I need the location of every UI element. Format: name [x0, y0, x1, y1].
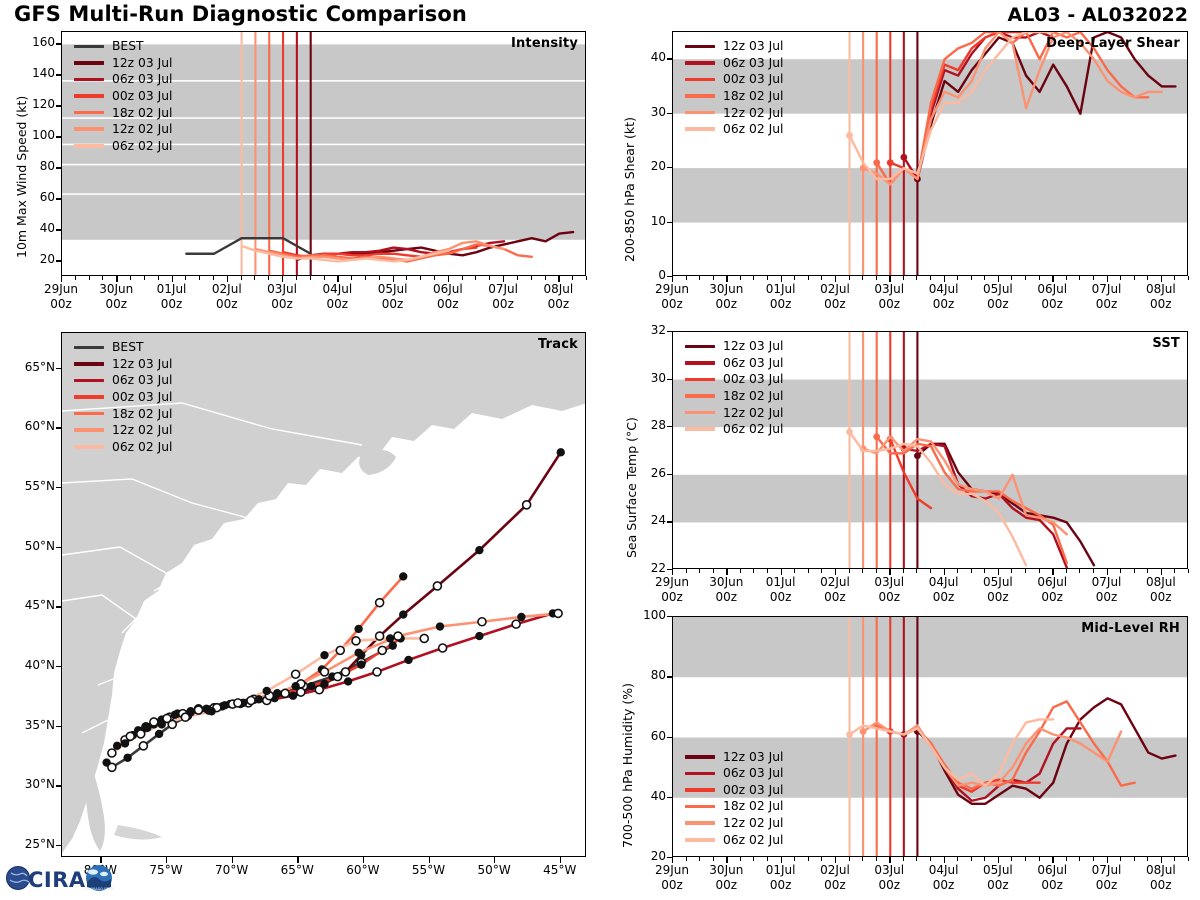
- x-tick-label: 04Jul00z: [914, 575, 974, 604]
- legend-label: 18z 02 Jul: [723, 390, 783, 402]
- x-tick-day: 03Jul: [874, 863, 904, 877]
- x-minor-tick: [876, 857, 877, 861]
- legend-swatch: [685, 394, 715, 398]
- x-minor-tick: [686, 276, 687, 280]
- y-tick-label: 32: [626, 323, 666, 337]
- x-tick-label: 06Jul00z: [1022, 863, 1082, 892]
- y-tick-label: 60: [626, 729, 666, 743]
- x-tick-hour: 00z: [437, 297, 459, 311]
- x-minor-tick: [767, 857, 768, 861]
- legend-item-00z-03-jul: 00z 03 Jul: [74, 88, 172, 105]
- x-tick-day: 30Jun: [709, 282, 743, 296]
- lat-tick-label: 65°N: [9, 360, 55, 374]
- x-minor-tick: [1039, 276, 1040, 280]
- legend-swatch: [74, 379, 104, 383]
- legend-item-12z-03-jul: 12z 03 Jul: [685, 748, 783, 765]
- x-minor-tick: [984, 569, 985, 573]
- x-tick-day: 03Jul: [874, 575, 904, 589]
- y-tick-mark: [667, 222, 672, 223]
- x-minor-tick: [545, 276, 546, 280]
- legend-item-best: BEST: [74, 38, 172, 55]
- x-tick-label: 06Jul00z: [418, 282, 478, 311]
- x-tick-hour: 00z: [1096, 878, 1118, 892]
- legend-item-00z-03-jul: 00z 03 Jul: [685, 371, 783, 388]
- x-tick-label: 08Jul00z: [1131, 282, 1191, 311]
- x-minor-tick: [1120, 569, 1121, 573]
- y-tick-mark: [56, 74, 61, 75]
- x-tick-hour: 00z: [716, 878, 738, 892]
- x-tick-mark: [393, 276, 394, 282]
- shear-panel-label: Deep-Layer Shear: [1046, 36, 1180, 51]
- y-tick-label: 10: [626, 214, 666, 228]
- intensity-legend: BEST12z 03 Jul06z 03 Jul00z 03 Jul18z 02…: [74, 38, 172, 154]
- x-minor-tick: [808, 276, 809, 280]
- legend-label: 06z 02 Jul: [723, 834, 783, 846]
- legend-item-12z-03-jul: 12z 03 Jul: [685, 38, 783, 55]
- x-tick-label: 30Jun00z: [696, 575, 756, 604]
- legend-swatch: [685, 378, 715, 382]
- x-tick-day: 03Jul: [874, 282, 904, 296]
- x-minor-tick: [686, 569, 687, 573]
- x-tick-label: 04Jul00z: [307, 282, 367, 311]
- legend-item-06z-03-jul: 06z 03 Jul: [74, 372, 172, 389]
- x-tick-day: 05Jul: [983, 863, 1013, 877]
- x-minor-tick: [1120, 857, 1121, 861]
- legend-label: BEST: [112, 341, 144, 353]
- x-tick-hour: 00z: [327, 297, 349, 311]
- x-tick-mark: [227, 276, 228, 282]
- x-tick-hour: 00z: [716, 590, 738, 604]
- legend-label: 12z 03 Jul: [723, 40, 783, 52]
- y-tick-mark: [667, 113, 672, 114]
- x-tick-day: 04Jul: [322, 282, 352, 296]
- x-tick-mark: [1161, 569, 1162, 575]
- intensity-panel-label: Intensity: [511, 36, 578, 51]
- legend-item-00z-03-jul: 00z 03 Jul: [685, 782, 783, 799]
- x-tick-label: 05Jul00z: [968, 282, 1028, 311]
- x-tick-mark: [998, 276, 999, 282]
- y-tick-label: 80: [626, 668, 666, 682]
- x-minor-tick: [957, 276, 958, 280]
- x-tick-mark: [1052, 276, 1053, 282]
- x-tick-hour: 00z: [1041, 297, 1063, 311]
- x-tick-label: 29Jun00z: [642, 575, 702, 604]
- legend-label: 12z 03 Jul: [112, 57, 172, 69]
- x-tick-day: 07Jul: [488, 282, 518, 296]
- x-minor-tick: [1188, 569, 1189, 573]
- storm-id-label: AL03 - AL032022: [1008, 4, 1189, 26]
- x-tick-label: 29Jun00z: [642, 863, 702, 892]
- legend-label: 12z 02 Jul: [723, 407, 783, 419]
- x-tick-day: 02Jul: [820, 282, 850, 296]
- legend-item-best: BEST: [74, 339, 172, 356]
- y-tick-mark: [56, 229, 61, 230]
- x-minor-tick: [296, 276, 297, 280]
- lon-tick-mark: [363, 857, 364, 863]
- x-minor-tick: [1093, 569, 1094, 573]
- legend-swatch: [74, 144, 104, 148]
- legend-item-06z-03-jul: 06z 03 Jul: [74, 71, 172, 88]
- x-tick-label: 07Jul00z: [473, 282, 533, 311]
- legend-label: 00z 03 Jul: [723, 373, 783, 385]
- x-minor-tick: [957, 569, 958, 573]
- x-tick-day: 04Jul: [929, 863, 959, 877]
- rh-panel: Mid-Level RH 12z 03 Jul06z 03 Jul00z 03 …: [672, 616, 1188, 857]
- x-minor-tick: [1066, 857, 1067, 861]
- x-tick-mark: [558, 276, 559, 282]
- legend-label: 18z 02 Jul: [112, 107, 172, 119]
- x-tick-day: 04Jul: [929, 575, 959, 589]
- x-minor-tick: [572, 276, 573, 280]
- x-tick-label: 07Jul00z: [1077, 863, 1137, 892]
- x-minor-tick: [406, 276, 407, 280]
- legend-label: 06z 03 Jul: [723, 767, 783, 779]
- x-tick-label: 08Jul00z: [528, 282, 588, 311]
- x-tick-label: 01Jul00z: [142, 282, 202, 311]
- legend-swatch: [685, 45, 715, 49]
- legend-item-12z-03-jul: 12z 03 Jul: [685, 338, 783, 355]
- x-tick-day: 05Jul: [983, 575, 1013, 589]
- y-tick-mark: [667, 676, 672, 677]
- x-tick-label: 07Jul00z: [1077, 575, 1137, 604]
- x-minor-tick: [794, 857, 795, 861]
- x-tick-mark: [835, 276, 836, 282]
- x-tick-hour: 00z: [1150, 297, 1172, 311]
- x-minor-tick: [699, 276, 700, 280]
- lon-tick-mark: [166, 857, 167, 863]
- legend-item-06z-02-jul: 06z 02 Jul: [685, 121, 783, 138]
- x-minor-tick: [1188, 857, 1189, 861]
- x-tick-day: 01Jul: [766, 282, 796, 296]
- legend-label: 12z 03 Jul: [112, 358, 172, 370]
- cira-logo: CIRA COLORADO STATE: [4, 858, 119, 898]
- x-tick-label: 02Jul00z: [805, 863, 865, 892]
- x-tick-day: 02Jul: [820, 575, 850, 589]
- x-minor-tick: [862, 276, 863, 280]
- y-tick-label: 100: [626, 608, 666, 622]
- x-tick-hour: 00z: [824, 590, 846, 604]
- x-minor-tick: [1066, 276, 1067, 280]
- lat-tick-mark: [56, 726, 61, 727]
- x-tick-day: 05Jul: [983, 282, 1013, 296]
- x-minor-tick: [324, 276, 325, 280]
- x-tick-mark: [944, 276, 945, 282]
- x-tick-mark: [998, 569, 999, 575]
- x-tick-day: 29Jun: [44, 282, 78, 296]
- legend-swatch: [74, 111, 104, 115]
- legend-swatch: [74, 346, 104, 350]
- legend-swatch: [685, 805, 715, 809]
- rh-legend: 12z 03 Jul06z 03 Jul00z 03 Jul18z 02 Jul…: [685, 748, 783, 848]
- x-minor-tick: [862, 569, 863, 573]
- legend-swatch: [74, 362, 104, 366]
- legend-item-06z-02-jul: 06z 02 Jul: [74, 439, 172, 456]
- x-minor-tick: [971, 276, 972, 280]
- shear-legend: 12z 03 Jul06z 03 Jul00z 03 Jul18z 02 Jul…: [685, 38, 783, 138]
- track-panel: Track BEST12z 03 Jul06z 03 Jul00z 03 Jul…: [61, 332, 586, 857]
- x-tick-label: 05Jul00z: [363, 282, 423, 311]
- legend-label: BEST: [112, 40, 144, 52]
- x-minor-tick: [379, 276, 380, 280]
- x-minor-tick: [1025, 276, 1026, 280]
- legend-label: 06z 03 Jul: [723, 357, 783, 369]
- x-tick-hour: 00z: [661, 590, 683, 604]
- legend-swatch: [74, 428, 104, 432]
- x-minor-tick: [767, 276, 768, 280]
- legend-label: 00z 03 Jul: [723, 73, 783, 85]
- x-tick-hour: 00z: [1096, 590, 1118, 604]
- y-tick-mark: [667, 616, 672, 617]
- x-minor-tick: [821, 857, 822, 861]
- x-minor-tick: [1093, 857, 1094, 861]
- x-minor-tick: [1174, 857, 1175, 861]
- x-tick-hour: 00z: [878, 590, 900, 604]
- legend-swatch: [685, 94, 715, 98]
- x-minor-tick: [794, 569, 795, 573]
- x-tick-hour: 00z: [716, 297, 738, 311]
- lat-tick-mark: [56, 845, 61, 846]
- y-tick-mark: [56, 105, 61, 106]
- x-minor-tick: [1039, 857, 1040, 861]
- x-minor-tick: [862, 857, 863, 861]
- legend-swatch: [685, 345, 715, 349]
- x-minor-tick: [740, 857, 741, 861]
- x-minor-tick: [268, 276, 269, 280]
- x-tick-hour: 00z: [1041, 878, 1063, 892]
- x-minor-tick: [971, 569, 972, 573]
- x-tick-day: 07Jul: [1092, 575, 1122, 589]
- x-minor-tick: [753, 276, 754, 280]
- legend-item-06z-03-jul: 06z 03 Jul: [685, 765, 783, 782]
- x-tick-day: 02Jul: [212, 282, 242, 296]
- y-tick-mark: [667, 167, 672, 168]
- x-tick-day: 02Jul: [820, 863, 850, 877]
- x-minor-tick: [930, 276, 931, 280]
- shear-panel: Deep-Layer Shear 12z 03 Jul06z 03 Jul00z…: [672, 31, 1188, 276]
- legend-label: 06z 02 Jul: [723, 423, 783, 435]
- legend-swatch: [685, 78, 715, 82]
- x-tick-label: 06Jul00z: [1022, 282, 1082, 311]
- x-tick-mark: [1052, 569, 1053, 575]
- legend-swatch: [74, 412, 104, 416]
- y-tick-mark: [56, 136, 61, 137]
- x-tick-hour: 00z: [824, 297, 846, 311]
- x-minor-tick: [1174, 276, 1175, 280]
- x-minor-tick: [1134, 569, 1135, 573]
- x-tick-mark: [835, 857, 836, 863]
- x-tick-mark: [503, 276, 504, 282]
- x-minor-tick: [821, 276, 822, 280]
- lat-tick-mark: [56, 427, 61, 428]
- y-tick-mark: [56, 43, 61, 44]
- x-minor-tick: [903, 857, 904, 861]
- x-minor-tick: [686, 857, 687, 861]
- x-minor-tick: [971, 857, 972, 861]
- x-tick-day: 06Jul: [1037, 863, 1067, 877]
- x-minor-tick: [1147, 857, 1148, 861]
- x-tick-hour: 00z: [1041, 590, 1063, 604]
- x-tick-mark: [726, 569, 727, 575]
- x-minor-tick: [1188, 276, 1189, 280]
- x-tick-mark: [172, 276, 173, 282]
- intensity-panel: Intensity BEST12z 03 Jul06z 03 Jul00z 03…: [61, 31, 586, 276]
- x-tick-day: 30Jun: [709, 863, 743, 877]
- x-minor-tick: [1120, 276, 1121, 280]
- x-minor-tick: [1134, 276, 1135, 280]
- x-tick-hour: 00z: [770, 878, 792, 892]
- legend-item-06z-02-jul: 06z 02 Jul: [685, 421, 783, 438]
- x-minor-tick: [1147, 276, 1148, 280]
- x-tick-hour: 00z: [105, 297, 127, 311]
- x-tick-hour: 00z: [382, 297, 404, 311]
- x-minor-tick: [753, 569, 754, 573]
- x-tick-label: 29Jun00z: [31, 282, 91, 311]
- x-tick-label: 02Jul00z: [805, 282, 865, 311]
- legend-swatch: [74, 395, 104, 399]
- x-tick-hour: 00z: [824, 878, 846, 892]
- svg-text:CIRA: CIRA: [28, 868, 86, 892]
- y-tick-label: 80: [15, 159, 55, 173]
- y-tick-label: 26: [626, 466, 666, 480]
- lon-tick-label: 75°W: [136, 863, 196, 878]
- track-legend: BEST12z 03 Jul06z 03 Jul00z 03 Jul18z 02…: [74, 339, 172, 455]
- legend-swatch: [685, 127, 715, 131]
- x-minor-tick: [1079, 857, 1080, 861]
- x-tick-mark: [889, 276, 890, 282]
- x-minor-tick: [821, 569, 822, 573]
- lon-tick-label: 60°W: [333, 863, 393, 878]
- x-minor-tick: [420, 276, 421, 280]
- legend-label: 18z 02 Jul: [723, 800, 783, 812]
- x-minor-tick: [1079, 276, 1080, 280]
- legend-label: 12z 03 Jul: [723, 340, 783, 352]
- legend-label: 06z 03 Jul: [112, 374, 172, 386]
- x-minor-tick: [310, 276, 311, 280]
- x-minor-tick: [199, 276, 200, 280]
- x-minor-tick: [75, 276, 76, 280]
- y-tick-mark: [667, 426, 672, 427]
- y-tick-mark: [667, 474, 672, 475]
- legend-swatch: [685, 821, 715, 825]
- x-tick-mark: [944, 569, 945, 575]
- x-minor-tick: [916, 857, 917, 861]
- legend-item-12z-02-jul: 12z 02 Jul: [74, 422, 172, 439]
- x-tick-day: 08Jul: [1146, 575, 1176, 589]
- x-tick-mark: [726, 857, 727, 863]
- x-minor-tick: [984, 276, 985, 280]
- lon-tick-label: 45°W: [530, 863, 590, 878]
- x-tick-mark: [448, 276, 449, 282]
- x-tick-mark: [672, 276, 673, 282]
- y-tick-label: 40: [15, 221, 55, 235]
- legend-item-12z-02-jul: 12z 02 Jul: [685, 815, 783, 832]
- x-tick-hour: 00z: [661, 297, 683, 311]
- lat-tick-label: 45°N: [9, 598, 55, 612]
- x-tick-day: 07Jul: [1092, 863, 1122, 877]
- lon-tick-mark: [560, 857, 561, 863]
- y-tick-label: 60: [15, 190, 55, 204]
- y-tick-label: 160: [15, 35, 55, 49]
- legend-item-00z-03-jul: 00z 03 Jul: [685, 71, 783, 88]
- x-tick-label: 02Jul00z: [805, 575, 865, 604]
- y-tick-label: 28: [626, 418, 666, 432]
- legend-label: 06z 02 Jul: [723, 123, 783, 135]
- lat-tick-label: 25°N: [9, 837, 55, 851]
- x-tick-hour: 00z: [933, 297, 955, 311]
- x-tick-label: 30Jun00z: [86, 282, 146, 311]
- rh-y-axis-label: 700-500 hPa Humidity (%): [620, 683, 635, 848]
- lat-tick-label: 30°N: [9, 777, 55, 791]
- x-tick-mark: [1161, 857, 1162, 863]
- x-tick-mark: [1107, 857, 1108, 863]
- x-minor-tick: [1147, 569, 1148, 573]
- legend-item-06z-03-jul: 06z 03 Jul: [685, 355, 783, 372]
- x-minor-tick: [876, 276, 877, 280]
- y-tick-label: 0: [626, 268, 666, 282]
- x-tick-hour: 00z: [1150, 590, 1172, 604]
- x-minor-tick: [1066, 569, 1067, 573]
- legend-label: 18z 02 Jul: [723, 90, 783, 102]
- lon-tick-mark: [232, 857, 233, 863]
- x-tick-day: 08Jul: [1146, 282, 1176, 296]
- legend-label: 06z 03 Jul: [723, 57, 783, 69]
- x-tick-day: 01Jul: [766, 863, 796, 877]
- x-tick-day: 08Jul: [543, 282, 573, 296]
- x-minor-tick: [1025, 857, 1026, 861]
- x-minor-tick: [158, 276, 159, 280]
- x-tick-day: 04Jul: [929, 282, 959, 296]
- legend-swatch: [685, 111, 715, 115]
- y-tick-mark: [667, 58, 672, 59]
- x-tick-mark: [889, 569, 890, 575]
- x-tick-hour: 00z: [770, 590, 792, 604]
- x-minor-tick: [475, 276, 476, 280]
- x-tick-day: 01Jul: [766, 575, 796, 589]
- lat-tick-mark: [56, 547, 61, 548]
- x-minor-tick: [740, 569, 741, 573]
- x-tick-mark: [282, 276, 283, 282]
- lon-tick-mark: [429, 857, 430, 863]
- y-tick-mark: [667, 331, 672, 332]
- legend-swatch: [74, 45, 104, 49]
- x-tick-day: 08Jul: [1146, 863, 1176, 877]
- lon-tick-label: 55°W: [399, 863, 459, 878]
- legend-item-12z-02-jul: 12z 02 Jul: [685, 404, 783, 421]
- lat-tick-mark: [56, 487, 61, 488]
- legend-item-06z-03-jul: 06z 03 Jul: [685, 55, 783, 72]
- x-tick-label: 02Jul00z: [197, 282, 257, 311]
- x-minor-tick: [1093, 276, 1094, 280]
- x-tick-hour: 00z: [878, 878, 900, 892]
- x-minor-tick: [808, 569, 809, 573]
- legend-item-12z-03-jul: 12z 03 Jul: [74, 55, 172, 72]
- x-tick-label: 03Jul00z: [859, 575, 919, 604]
- legend-label: 12z 02 Jul: [723, 817, 783, 829]
- x-minor-tick: [916, 569, 917, 573]
- x-tick-mark: [944, 857, 945, 863]
- x-tick-mark: [672, 569, 673, 575]
- x-minor-tick: [489, 276, 490, 280]
- x-minor-tick: [916, 276, 917, 280]
- y-tick-mark: [667, 737, 672, 738]
- legend-label: 06z 03 Jul: [112, 73, 172, 85]
- x-minor-tick: [1134, 857, 1135, 861]
- x-tick-mark: [781, 857, 782, 863]
- x-minor-tick: [213, 276, 214, 280]
- lat-tick-label: 50°N: [9, 539, 55, 553]
- x-tick-mark: [1107, 569, 1108, 575]
- x-tick-label: 03Jul00z: [252, 282, 312, 311]
